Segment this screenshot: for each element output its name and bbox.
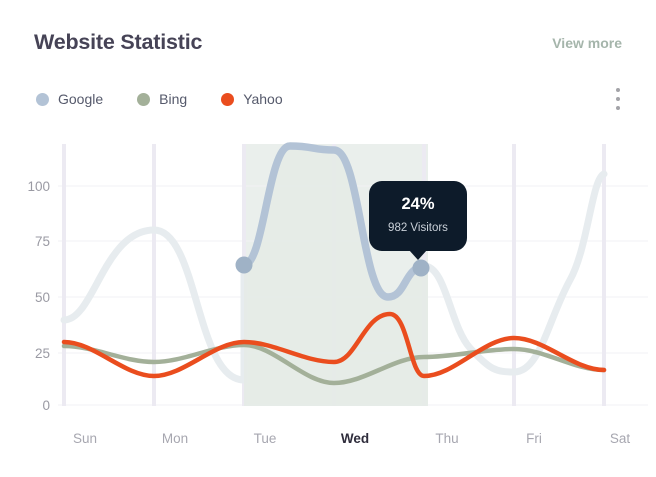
y-tick-100: 100 — [16, 179, 50, 194]
data-point-marker-selected[interactable] — [413, 260, 430, 277]
y-tick-75: 75 — [16, 234, 50, 249]
x-tick-mon[interactable]: Mon — [162, 431, 188, 446]
kebab-dot-2 — [616, 97, 620, 101]
chart-svg — [0, 130, 656, 420]
legend-label-yahoo: Yahoo — [243, 91, 282, 107]
kebab-dot-1 — [616, 88, 620, 92]
view-more-link[interactable]: View more — [552, 35, 622, 51]
legend-item-bing[interactable]: Bing — [137, 91, 187, 107]
x-tick-thu[interactable]: Thu — [435, 431, 458, 446]
tooltip-visitors-value: 982 Visitors — [369, 222, 467, 234]
tooltip-percent-value: 24% — [369, 195, 467, 214]
y-tick-50: 50 — [16, 290, 50, 305]
x-tick-sun[interactable]: Sun — [73, 431, 97, 446]
legend-label-google: Google — [58, 91, 103, 107]
chart-legend: Google Bing Yahoo — [36, 91, 317, 107]
y-tick-25: 25 — [16, 346, 50, 361]
legend-item-yahoo[interactable]: Yahoo — [221, 91, 282, 107]
x-tick-wed[interactable]: Wed — [341, 431, 369, 446]
data-point-tooltip: 24% 982 Visitors — [369, 181, 467, 251]
x-tick-fri[interactable]: Fri — [526, 431, 542, 446]
page-title: Website Statistic — [34, 30, 202, 55]
legend-dot-icon-yahoo — [221, 93, 234, 106]
website-statistic-card: Website Statistic View more Google Bing … — [0, 0, 656, 477]
legend-item-google[interactable]: Google — [36, 91, 103, 107]
kebab-menu-icon[interactable] — [608, 86, 628, 112]
chart-plot-area: 100 75 50 25 0 — [0, 130, 656, 420]
legend-dot-icon-google — [36, 93, 49, 106]
kebab-dot-3 — [616, 106, 620, 110]
card-header: Website Statistic View more — [34, 30, 622, 60]
x-tick-tue[interactable]: Tue — [254, 431, 277, 446]
tooltip-arrow-icon — [409, 250, 427, 260]
x-tick-sat[interactable]: Sat — [610, 431, 630, 446]
data-point-marker-tue[interactable] — [236, 257, 253, 274]
legend-label-bing: Bing — [159, 91, 187, 107]
y-tick-0: 0 — [16, 398, 50, 413]
legend-dot-icon-bing — [137, 93, 150, 106]
